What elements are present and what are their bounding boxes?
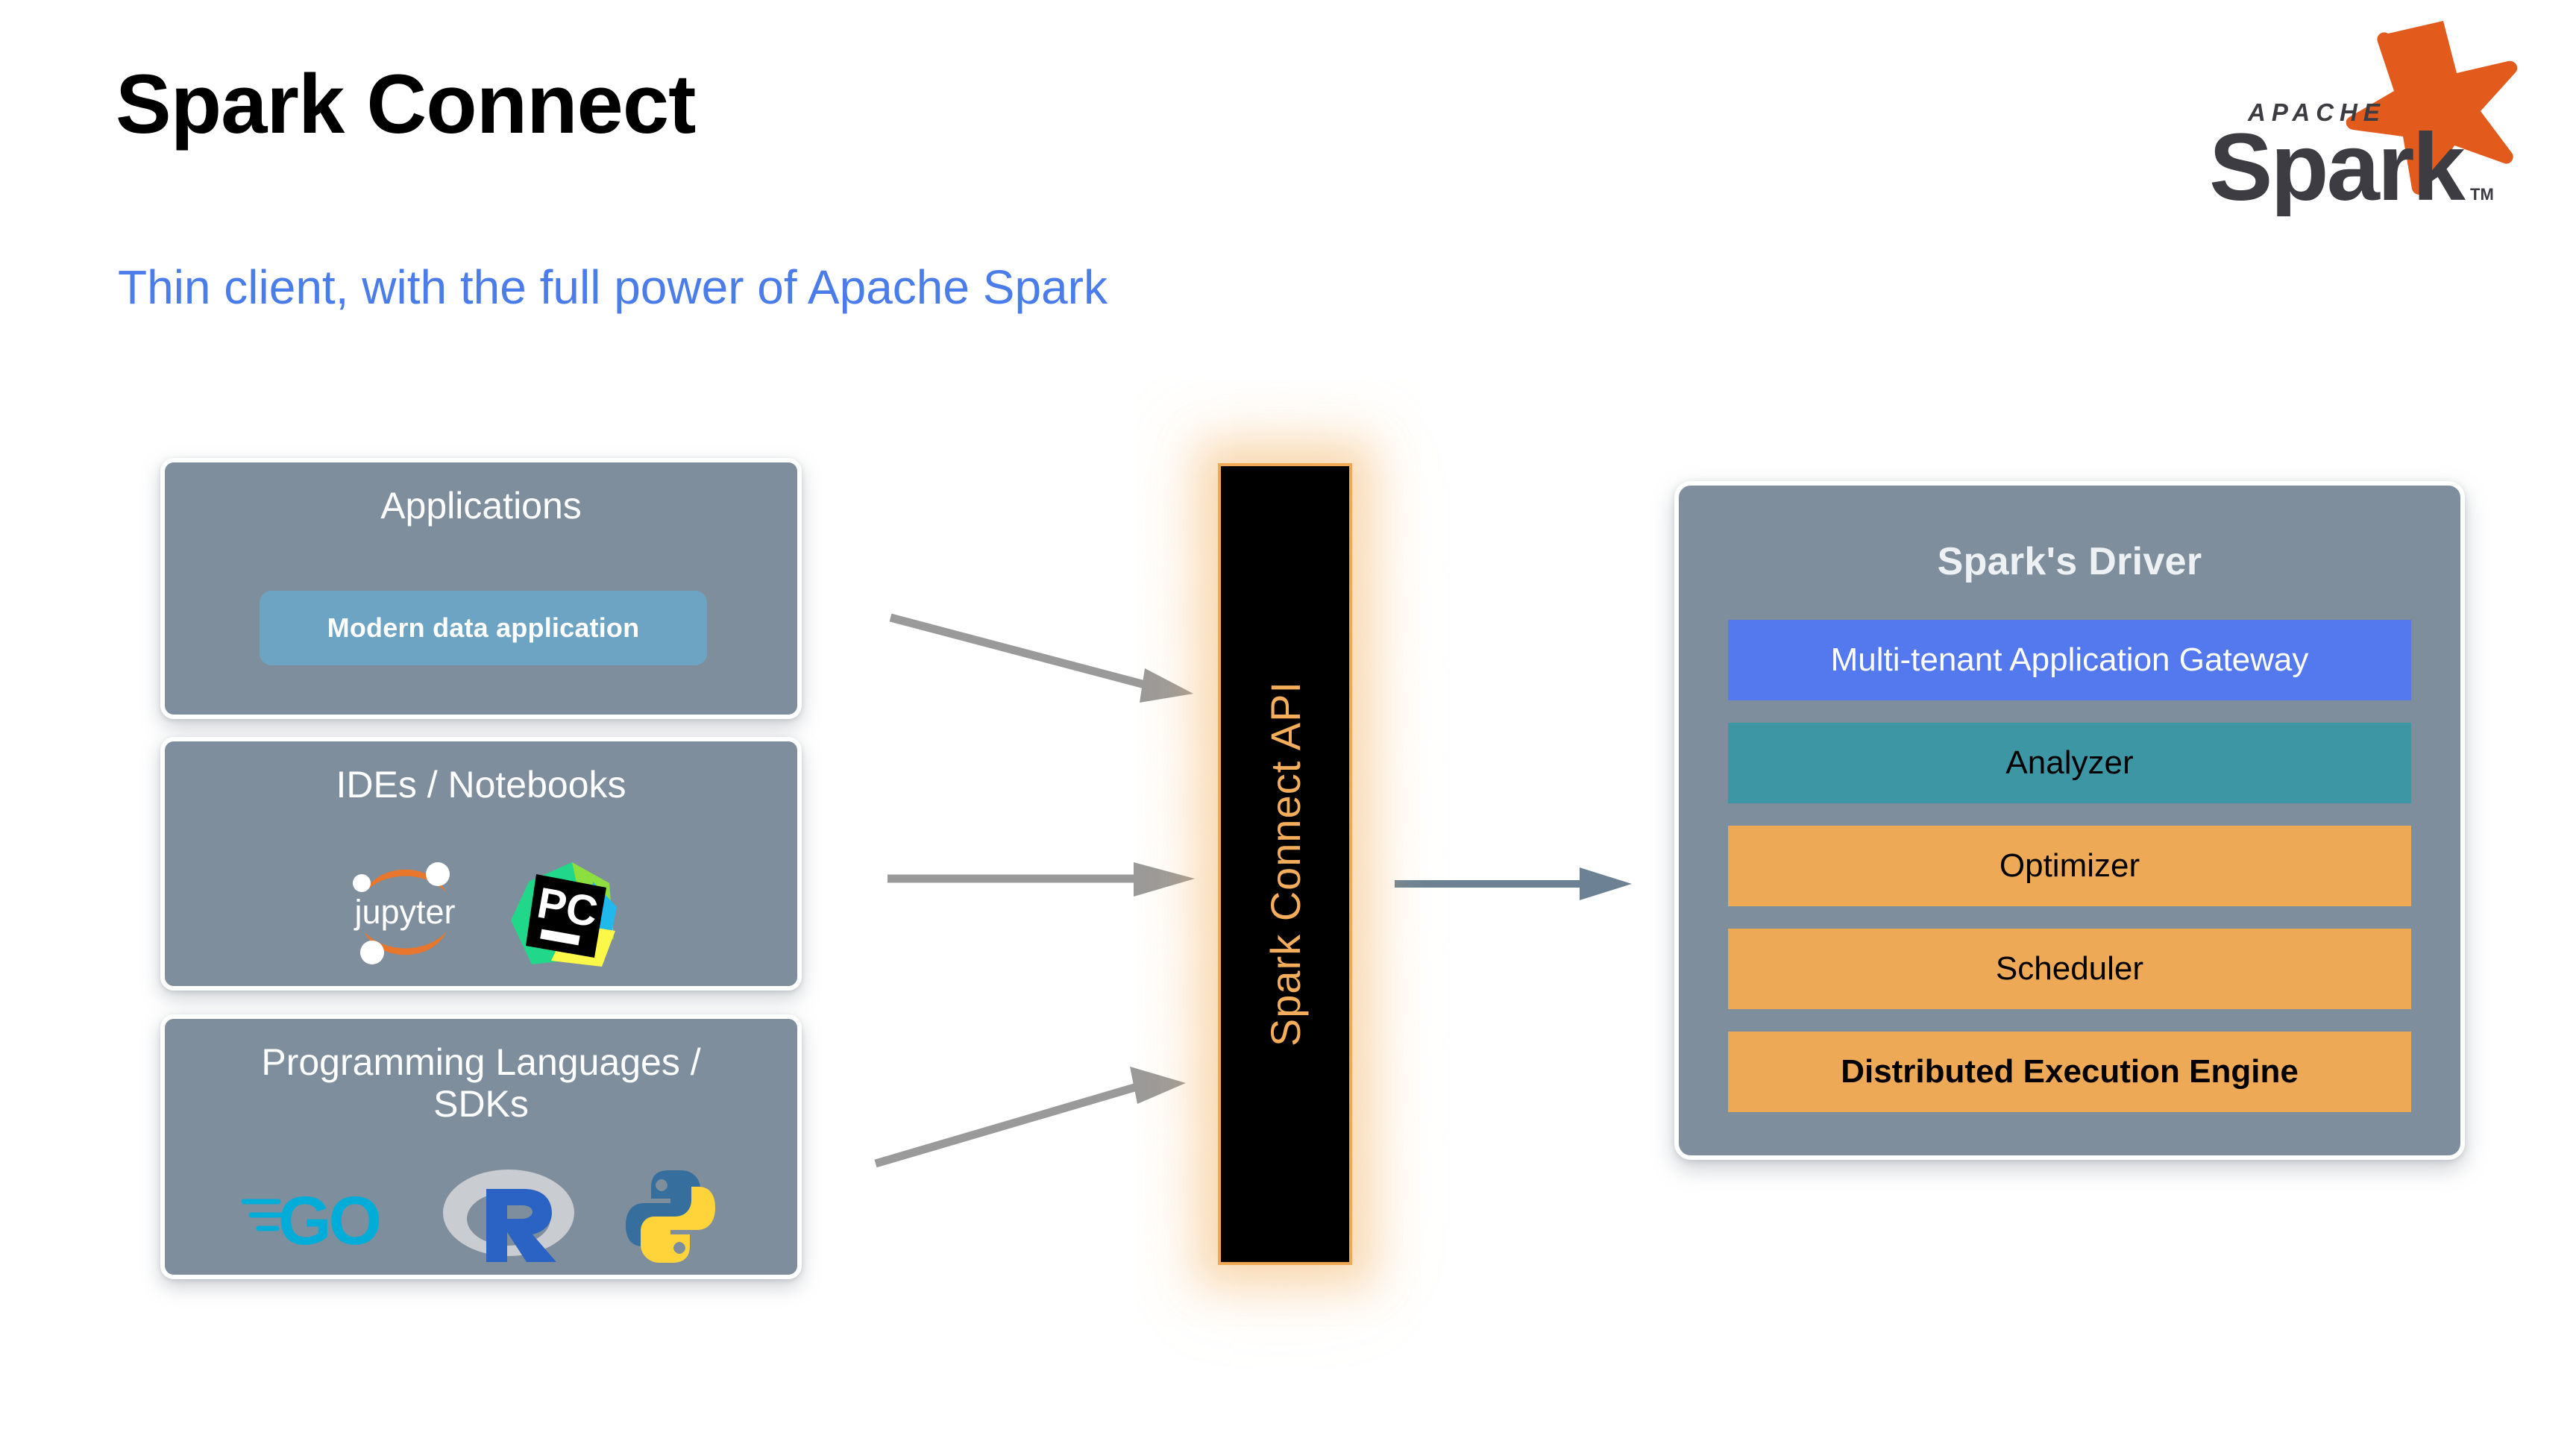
apache-spark-logo: APACHE Spark TM xyxy=(2143,15,2531,216)
driver-row-execution-engine[interactable]: Distributed Execution Engine xyxy=(1728,1032,2411,1112)
r-letter xyxy=(486,1189,556,1262)
jupyter-wordmark: jupyter xyxy=(353,893,455,931)
card-ides-title: IDEs / Notebooks xyxy=(165,741,797,806)
arrow-languages-to-api xyxy=(873,1044,1208,1171)
card-languages-title: Programming Languages / SDKs xyxy=(165,1019,797,1125)
spark-connect-api-label: Spark Connect API xyxy=(1261,681,1310,1046)
card-applications[interactable]: Applications Modern data application xyxy=(160,458,802,719)
trademark-mark: TM xyxy=(2470,185,2494,204)
page-title: Spark Connect xyxy=(116,58,695,150)
modern-data-application-box[interactable]: Modern data application xyxy=(260,591,707,665)
page-subtitle: Thin client, with the full power of Apac… xyxy=(118,261,1108,313)
r-logo xyxy=(440,1167,578,1271)
card-languages-title-line1: Programming Languages / xyxy=(261,1041,700,1083)
arrow-applications-to-api xyxy=(888,612,1208,716)
card-languages-title-line2: SDKs xyxy=(433,1083,529,1125)
driver-row-analyzer[interactable]: Analyzer xyxy=(1728,723,2411,803)
pycharm-wordmark: PC xyxy=(533,878,601,936)
spark-wordmark: Spark xyxy=(2209,114,2466,216)
python-logo xyxy=(618,1164,723,1272)
pycharm-logo: PC xyxy=(497,849,623,978)
arrow-ides-to-api xyxy=(888,850,1208,910)
ide-logo-row: jupyter PC xyxy=(165,846,797,980)
card-applications-title: Applications xyxy=(165,462,797,527)
go-logo: GO xyxy=(239,1172,400,1265)
driver-row-scheduler[interactable]: Scheduler xyxy=(1728,929,2411,1009)
spark-driver-title: Spark's Driver xyxy=(1728,486,2411,620)
driver-row-gateway[interactable]: Multi-tenant Application Gateway xyxy=(1728,620,2411,700)
spark-connect-api-bar[interactable]: Spark Connect API xyxy=(1218,463,1352,1265)
card-ides-notebooks[interactable]: IDEs / Notebooks jupyter xyxy=(160,737,802,991)
jupyter-logo: jupyter xyxy=(340,846,471,980)
arrow-api-to-driver xyxy=(1395,854,1656,914)
driver-row-optimizer[interactable]: Optimizer xyxy=(1728,826,2411,906)
slide-canvas: Spark Connect Thin client, with the full… xyxy=(0,0,2576,1447)
card-programming-languages[interactable]: Programming Languages / SDKs GO xyxy=(160,1014,802,1279)
spark-driver-card[interactable]: Spark's Driver Multi-tenant Application … xyxy=(1674,481,2465,1160)
language-logo-row: GO xyxy=(165,1164,797,1272)
go-wordmark: GO xyxy=(278,1183,380,1259)
